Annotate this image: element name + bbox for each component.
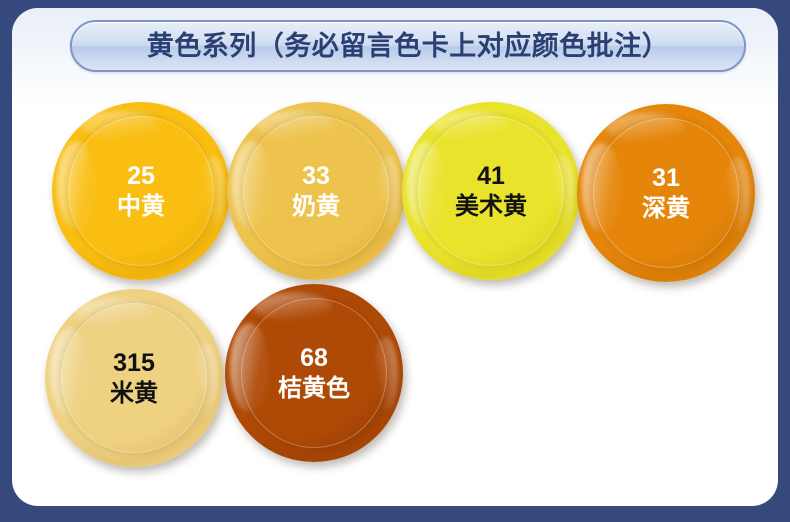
swatch-gloss-left — [230, 323, 269, 412]
white-panel: 黄色系列（务必留言色卡上对应颜色批注） 25中黄33奶黄41美术黄31深黄315… — [12, 8, 778, 506]
swatch-gloss-right — [550, 155, 575, 230]
page-title: 黄色系列（务必留言色卡上对应颜色批注） — [147, 33, 670, 60]
swatch-disc — [52, 102, 230, 280]
swatch-gloss-right — [373, 337, 398, 412]
swatch-disc — [402, 102, 580, 280]
swatch-gloss-right — [725, 157, 750, 232]
color-card-page: 黄色系列（务必留言色卡上对应颜色批注） 25中黄33奶黄41美术黄31深黄315… — [0, 0, 790, 522]
swatch-gloss-right — [193, 342, 218, 417]
swatch-gloss-top — [605, 113, 683, 141]
color-swatch[interactable]: 25中黄 — [52, 102, 230, 280]
swatch-gloss-top — [253, 293, 331, 321]
color-swatch[interactable]: 31深黄 — [577, 104, 755, 282]
swatch-gloss-left — [57, 141, 96, 230]
swatch-gloss-top — [255, 111, 333, 139]
series-title-banner: 黄色系列（务必留言色卡上对应颜色批注） — [70, 20, 746, 72]
swatch-gloss-top — [430, 111, 508, 139]
swatch-gloss-right — [200, 155, 225, 230]
color-swatch[interactable]: 315米黄 — [45, 289, 223, 467]
swatch-disc — [227, 102, 405, 280]
color-swatch[interactable]: 68桔黄色 — [225, 284, 403, 462]
swatch-gloss-left — [50, 328, 89, 417]
swatch-disc — [45, 289, 223, 467]
swatch-disc — [225, 284, 403, 462]
swatch-gloss-left — [407, 141, 446, 230]
swatch-gloss-top — [80, 111, 158, 139]
color-swatch[interactable]: 41美术黄 — [402, 102, 580, 280]
color-swatch[interactable]: 33奶黄 — [227, 102, 405, 280]
swatch-disc — [577, 104, 755, 282]
swatch-grid: 25中黄33奶黄41美术黄31深黄315米黄68桔黄色 — [12, 82, 778, 502]
swatch-gloss-right — [375, 155, 400, 230]
swatch-gloss-top — [73, 298, 151, 326]
swatch-gloss-left — [232, 141, 271, 230]
swatch-gloss-left — [582, 143, 621, 232]
